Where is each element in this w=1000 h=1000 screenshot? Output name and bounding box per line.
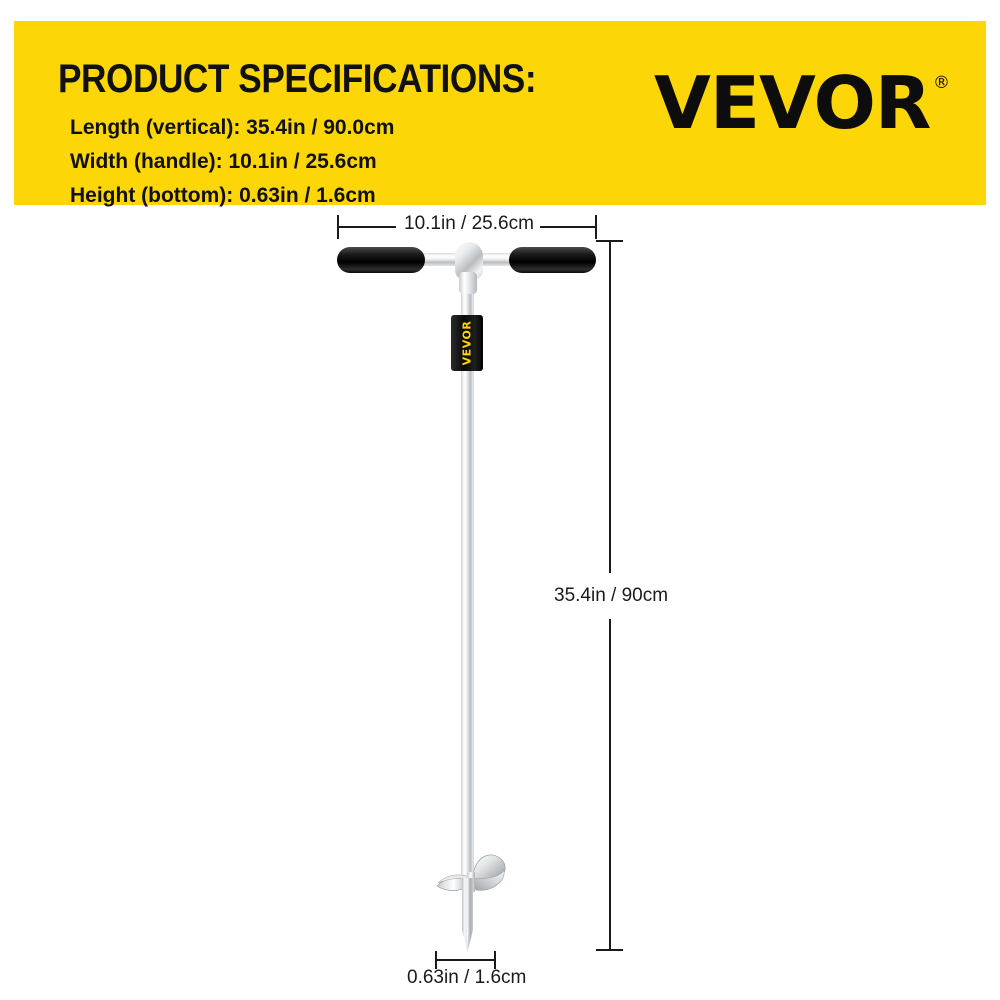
shaft-brand-sticker-label: VEVOR [461, 321, 474, 366]
height-dimension-line [436, 959, 496, 961]
length-dimension-line-lower [609, 619, 611, 950]
length-dimension-tick-bottom [596, 949, 623, 951]
handle-joint-sleeve [459, 272, 477, 294]
product-spec-sheet: PRODUCT SPECIFICATIONS: Length (vertical… [0, 0, 1000, 1000]
handle-grip-left [337, 247, 425, 273]
handle-grip-right-highlight [520, 4, 582, 8]
width-dimension-line-left [338, 226, 396, 228]
width-dimension-label: 10.1in / 25.6cm [404, 214, 534, 233]
length-dimension-tick-top [596, 240, 623, 242]
handle-grip-left-highlight [350, 4, 412, 8]
width-dimension-tick-right [595, 215, 597, 239]
height-dimension-label: 0.63in / 1.6cm [407, 968, 526, 987]
width-dimension-line-right [540, 226, 597, 228]
product-illustration: VEVOR [0, 0, 1000, 1000]
shaft-brand-sticker: VEVOR [451, 315, 483, 371]
length-dimension-line-upper [609, 241, 611, 573]
length-dimension-label: 35.4in / 90cm [554, 586, 668, 605]
auger-point-tip-icon [460, 878, 475, 952]
handle-grip-right [509, 247, 596, 273]
width-dimension-tick-left [337, 215, 339, 239]
